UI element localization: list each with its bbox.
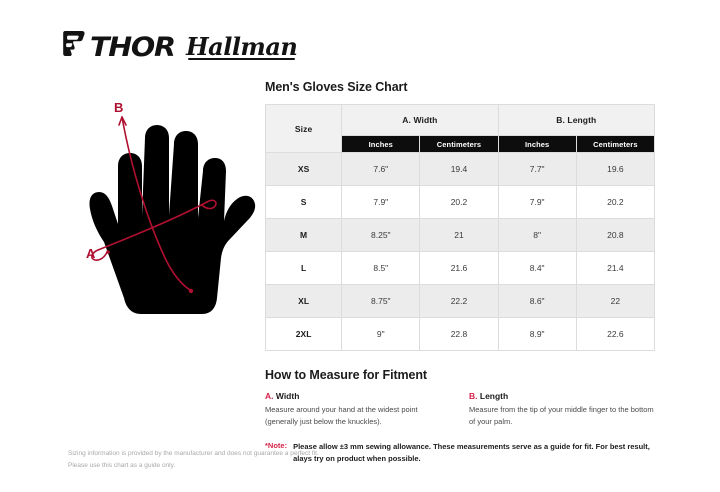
brand-logo-bar: THOR Hallman [62, 26, 292, 68]
cell-size: S [266, 186, 342, 219]
size-chart-table: Size A. Width B. Length Inches Centimete… [265, 104, 655, 351]
cell-length-inches: 7.7" [498, 153, 576, 186]
measure-item-width-heading: A. Width [265, 391, 451, 401]
measure-marker-a: A. [265, 391, 274, 401]
cell-length-centimeters: 19.6 [576, 153, 654, 186]
measure-name-width: Width [276, 391, 300, 401]
cell-length-inches: 8.4" [498, 252, 576, 285]
footer-line-2: Please use this chart as a guide only. [68, 460, 398, 472]
size-chart-content: Men's Gloves Size Chart Size A. Width B.… [265, 80, 657, 465]
column-header-width-inches: Inches [342, 136, 420, 153]
measure-name-length: Length [480, 391, 508, 401]
table-row: XS 7.6" 19.4 7.7" 19.6 [266, 153, 655, 186]
width-point-marker [106, 250, 110, 254]
cell-width-centimeters: 19.4 [420, 153, 498, 186]
length-label-b: B [114, 100, 123, 115]
cell-size: L [266, 252, 342, 285]
cell-size: M [266, 219, 342, 252]
cell-length-centimeters: 22 [576, 285, 654, 318]
table-row: L 8.5" 21.6 8.4" 21.4 [266, 252, 655, 285]
cell-width-centimeters: 21 [420, 219, 498, 252]
cell-size: XL [266, 285, 342, 318]
width-label-a: A [86, 246, 96, 261]
cell-length-centimeters: 20.2 [576, 186, 654, 219]
cell-length-inches: 8.6" [498, 285, 576, 318]
measure-item-length: B. Length Measure from the tip of your m… [469, 391, 655, 427]
thor-helmet-icon [62, 30, 88, 65]
column-header-size: Size [266, 105, 342, 153]
thor-wordmark: THOR [90, 34, 175, 61]
cell-width-inches: 8.5" [342, 252, 420, 285]
hallman-underline-flourish [188, 58, 295, 60]
cell-width-centimeters: 21.6 [420, 252, 498, 285]
cell-length-inches: 7.9" [498, 186, 576, 219]
hallman-wordmark: Hallman [186, 35, 297, 59]
cell-width-inches: 7.9" [342, 186, 420, 219]
table-row: XL 8.75" 22.2 8.6" 22 [266, 285, 655, 318]
cell-width-centimeters: 22.2 [420, 285, 498, 318]
cell-width-inches: 7.6" [342, 153, 420, 186]
column-group-header-length: B. Length [498, 105, 654, 136]
table-row: 2XL 9" 22.8 8.9" 22.6 [266, 318, 655, 351]
measure-marker-b: B. [469, 391, 478, 401]
table-header: Size A. Width B. Length Inches Centimete… [266, 105, 655, 153]
cell-length-centimeters: 22.6 [576, 318, 654, 351]
cell-width-inches: 8.75" [342, 285, 420, 318]
hand-measurement-diagram: A B [68, 92, 268, 322]
table-body: XS 7.6" 19.4 7.7" 19.6 S 7.9" 20.2 7.9" … [266, 153, 655, 351]
cell-width-centimeters: 22.8 [420, 318, 498, 351]
length-point-marker [189, 289, 193, 293]
column-header-width-centimeters: Centimeters [420, 136, 498, 153]
table-row: S 7.9" 20.2 7.9" 20.2 [266, 186, 655, 219]
measure-item-width-body: Measure around your hand at the widest p… [265, 404, 451, 427]
hallman-text: Hallman [186, 32, 297, 61]
cell-width-inches: 9" [342, 318, 420, 351]
measure-item-length-heading: B. Length [469, 391, 655, 401]
cell-width-centimeters: 20.2 [420, 186, 498, 219]
column-header-length-inches: Inches [498, 136, 576, 153]
measure-section-title: How to Measure for Fitment [265, 368, 657, 382]
cell-length-centimeters: 21.4 [576, 252, 654, 285]
table-row: M 8.25" 21 8" 20.8 [266, 219, 655, 252]
cell-length-inches: 8" [498, 219, 576, 252]
column-group-header-width: A. Width [342, 105, 498, 136]
footer-line-1: Sizing information is provided by the ma… [68, 448, 398, 460]
measure-item-width: A. Width Measure around your hand at the… [265, 391, 451, 427]
cell-length-centimeters: 20.8 [576, 219, 654, 252]
column-header-length-centimeters: Centimeters [576, 136, 654, 153]
cell-width-inches: 8.25" [342, 219, 420, 252]
measure-instructions: A. Width Measure around your hand at the… [265, 391, 657, 427]
thor-logo: THOR [62, 30, 170, 65]
cell-size: 2XL [266, 318, 342, 351]
cell-length-inches: 8.9" [498, 318, 576, 351]
page-title: Men's Gloves Size Chart [265, 80, 657, 94]
cell-size: XS [266, 153, 342, 186]
footer-disclaimer: Sizing information is provided by the ma… [68, 448, 398, 471]
table-header-row-groups: Size A. Width B. Length [266, 105, 655, 136]
measure-item-length-body: Measure from the tip of your middle fing… [469, 404, 655, 427]
